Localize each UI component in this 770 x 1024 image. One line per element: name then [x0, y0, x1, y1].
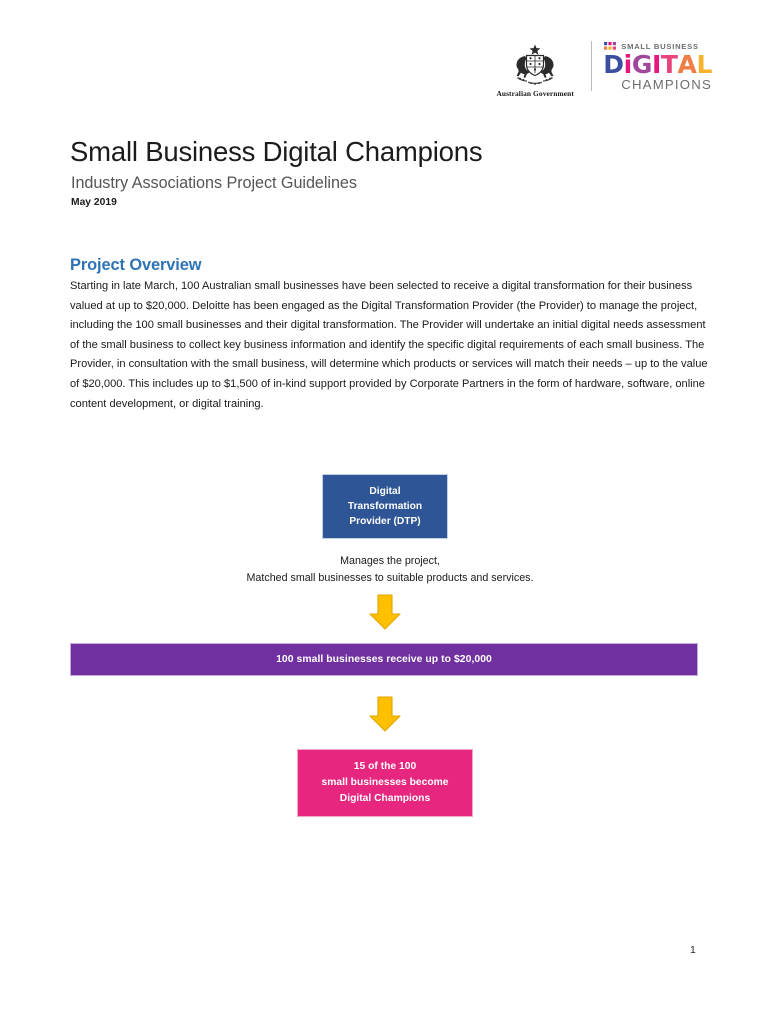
down-arrow-icon: [368, 594, 402, 631]
dtp-line-3: Provider (DTP): [349, 514, 420, 529]
logo-letter-2: G: [632, 53, 652, 77]
down-arrow-icon: [368, 696, 402, 733]
logo-letter-5: A: [678, 53, 697, 77]
section-heading-project-overview: Project Overview: [70, 256, 201, 275]
diagram-bar-funding: 100 small businesses receive up to $20,0…: [70, 643, 698, 676]
page-title: Small Business Digital Champions: [70, 136, 482, 168]
logo-letter-1: i: [624, 53, 632, 77]
logo-letter-0: D: [603, 53, 623, 77]
digital-champions-logo: SMALL BUSINESS DiGITAL CHAMPIONS: [603, 41, 712, 92]
page-number: 1: [690, 944, 696, 956]
diagram-caption-line-2: Matched small businesses to suitable pro…: [70, 570, 710, 587]
logo-letter-3: I: [652, 53, 661, 77]
diagram-caption: Manages the project, Matched small busin…: [70, 553, 710, 586]
page-date: May 2019: [71, 197, 117, 208]
dtp-line-2: Transformation: [348, 499, 422, 514]
project-overview-paragraph: Starting in late March, 100 Australian s…: [70, 277, 710, 414]
page-subtitle: Industry Associations Project Guidelines: [71, 174, 357, 193]
logo-letter-4: T: [661, 53, 678, 77]
dtp-line-1: Digital: [369, 484, 400, 499]
pink-box-line-2: small businesses become: [321, 775, 448, 791]
header-logos: Australian Government SMALL BUSINESS DiG…: [487, 33, 712, 99]
logo-wordmark-digital: DiGITAL: [603, 53, 712, 77]
diagram-bar-funding-label: 100 small businesses receive up to $20,0…: [276, 654, 492, 665]
diagram-caption-line-1: Manages the project,: [70, 553, 710, 570]
logo-divider: [591, 41, 592, 91]
logo-letter-6: L: [696, 53, 712, 77]
diagram-box-digital-champions: 15 of the 100 small businesses become Di…: [297, 749, 473, 817]
logo-wordmark-champions: CHAMPIONS: [603, 78, 712, 92]
pink-box-line-1: 15 of the 100: [354, 759, 416, 775]
australian-government-label: Australian Government: [496, 89, 573, 98]
diagram-box-dtp: Digital Transformation Provider (DTP): [322, 474, 448, 539]
australian-government-logo: Australian Government: [487, 34, 583, 98]
australian-coat-of-arms-icon: [506, 43, 564, 87]
pink-box-line-3: Digital Champions: [340, 791, 430, 807]
document-page: Australian Government SMALL BUSINESS DiG…: [0, 0, 770, 1024]
